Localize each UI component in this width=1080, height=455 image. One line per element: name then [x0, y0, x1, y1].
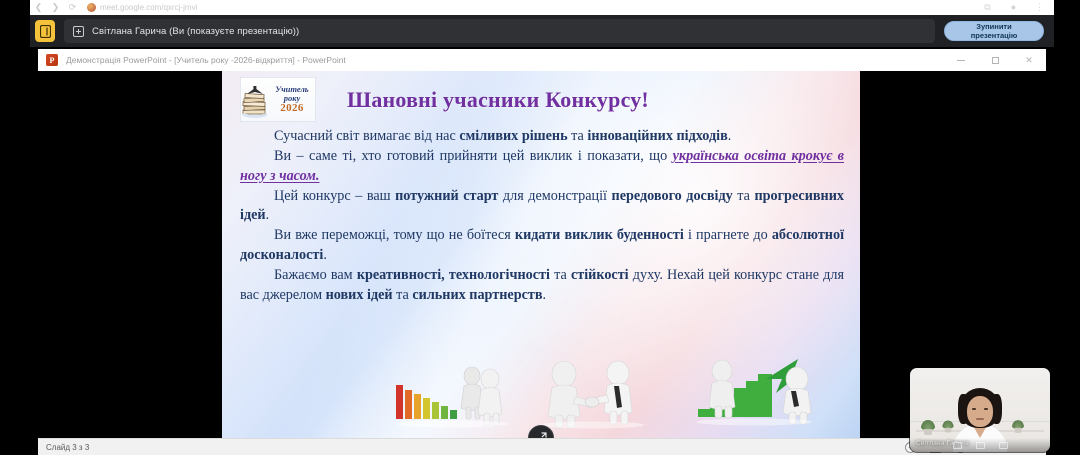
slide-paragraph: Бажаємо вам креативності, технологічност… — [240, 266, 844, 305]
stop-presenting-button[interactable]: Зупинити презентацію — [944, 21, 1044, 41]
contest-logo-year: 2026 — [269, 103, 315, 115]
browser-toolbar-actions: ⧉ ● ⋮ — [979, 0, 1054, 15]
meet-presentation-icon[interactable] — [35, 20, 55, 42]
emphasis-run: інноваційних підходів — [587, 128, 727, 144]
text-run: . — [266, 207, 270, 223]
presentation-slide[interactable]: Учитель року 2026 Шановні учасники Конку… — [222, 71, 860, 438]
slide-paragraph: Ви вже переможці, тому що не боїтеся кид… — [240, 226, 844, 265]
text-run: для демонстрації — [498, 188, 611, 204]
window-controls: ✕ — [944, 49, 1046, 71]
self-view-video-frame: Світлана Гарича — [910, 368, 1050, 452]
powerpoint-title-bar[interactable]: Демонстрація PowerPoint - [Учитель року … — [38, 49, 1046, 71]
self-view-video-tile[interactable]: Світлана Гарича — [910, 368, 1050, 452]
text-run: та — [568, 128, 588, 144]
text-run: Ви – саме ті, хто готовий прийняти цей в… — [274, 148, 673, 164]
text-run: та — [733, 188, 755, 204]
more-options-icon[interactable] — [999, 442, 1008, 449]
emphasis-run: нових ідей — [326, 287, 393, 303]
emphasis-run: сміливих рішень — [459, 128, 567, 144]
address-bar[interactable]: meet.google.com/qxrcj-jmvi — [87, 1, 979, 14]
bar-chart-with-figures-graphic — [394, 363, 512, 434]
slide-body-text: Сучасний світ вимагає від нас сміливих р… — [222, 127, 860, 305]
profile-avatar-icon[interactable]: ● — [1005, 0, 1022, 15]
text-run: . — [728, 128, 732, 144]
slide-counter-label: Слайд 3 з 3 — [46, 443, 89, 452]
stop-presenting-line2: презентацію — [971, 31, 1018, 40]
expand-fullscreen-button[interactable] — [528, 425, 554, 438]
microphone-icon[interactable] — [953, 442, 962, 449]
plant-icon — [921, 420, 935, 435]
slide-paragraph: Сучасний світ вимагає від нас сміливих р… — [240, 127, 844, 147]
address-bar-url: meet.google.com/qxrcj-jmvi — [100, 3, 197, 12]
slide-paragraph: Цей конкурс – ваш потужний старт для дем… — [240, 187, 844, 226]
maximize-icon[interactable] — [978, 49, 1012, 71]
participant-eye-right — [984, 408, 988, 410]
text-run: Сучасний світ вимагає від нас — [274, 128, 459, 144]
browser-menu-icon[interactable]: ⋮ — [1031, 0, 1048, 15]
powerpoint-logo-icon — [46, 54, 58, 66]
back-arrow-icon[interactable]: ❮ — [30, 0, 47, 15]
browser-toolbar: ❮ ❯ ⟳ meet.google.com/qxrcj-jmvi ⧉ ● ⋮ — [0, 0, 1080, 15]
participant-mouth — [976, 418, 984, 420]
meet-presentation-bar: Світлана Гарича (Ви (показуєте презентац… — [30, 15, 1054, 47]
slide-header: Учитель року 2026 Шановні учасники Конку… — [222, 71, 860, 127]
slide-title: Шановні учасники Конкурсу! — [347, 87, 649, 113]
forward-arrow-icon[interactable]: ❯ — [47, 0, 64, 15]
text-run: та — [550, 267, 571, 283]
extensions-icon[interactable]: ⧉ — [979, 0, 996, 15]
emphasis-run: стійкості — [571, 267, 629, 283]
text-run: . — [543, 287, 547, 303]
handshake-figures-graphic — [534, 359, 654, 434]
presenter-name-label: Світлана Гарича (Ви (показуєте презентац… — [92, 26, 299, 37]
text-run: та — [393, 287, 413, 303]
camera-icon[interactable] — [976, 442, 985, 449]
green-stairs-arrow-figures-graphic — [692, 357, 822, 434]
reload-icon[interactable]: ⟳ — [64, 0, 81, 15]
pin-icon[interactable] — [73, 26, 84, 37]
slideshow-stage: Учитель року 2026 Шановні учасники Конку… — [38, 71, 1046, 438]
text-run: Бажаємо вам — [274, 267, 357, 283]
screen-root: ❮ ❯ ⟳ meet.google.com/qxrcj-jmvi ⧉ ● ⋮ С… — [0, 0, 1080, 455]
contest-logo-badge: Учитель року 2026 — [240, 77, 316, 122]
emphasis-run: сильних партнерств — [412, 287, 542, 303]
text-run: . — [323, 247, 327, 263]
stack-of-books-icon — [241, 80, 269, 120]
close-icon[interactable]: ✕ — [1012, 49, 1046, 71]
slide-paragraph: Ви – саме ті, хто готовий прийняти цей в… — [240, 147, 844, 186]
powerpoint-window-title: Демонстрація PowerPoint - [Учитель року … — [66, 55, 346, 65]
browser-left-gutter — [0, 0, 30, 15]
minimize-icon[interactable] — [944, 49, 978, 71]
emphasis-run: передового досвіду — [612, 188, 733, 204]
participant-eye-left — [972, 408, 976, 410]
participant-face — [967, 396, 993, 427]
site-favicon — [87, 3, 96, 12]
text-run: і прагнете до — [684, 227, 772, 243]
powerpoint-status-bar: Слайд 3 з 3 ◁ ▤ ▷ — [38, 438, 1046, 455]
stop-presenting-line1: Зупинити — [976, 22, 1011, 31]
browser-right-gutter — [1054, 0, 1080, 15]
contest-logo-text: Учитель року 2026 — [269, 85, 315, 114]
emphasis-run: кидати виклик буденності — [515, 227, 684, 243]
emphasis-run: креативності, технологічності — [357, 267, 550, 283]
powerpoint-window: Демонстрація PowerPoint - [Учитель року … — [38, 49, 1046, 455]
emphasis-run: потужний старт — [395, 188, 498, 204]
text-run: Ви вже переможці, тому що не боїтеся — [274, 227, 515, 243]
presenter-status-pill[interactable]: Світлана Гарича (Ви (показуєте презентац… — [64, 19, 935, 43]
plant-icon — [1012, 421, 1024, 434]
text-run: Цей конкурс – ваш — [274, 188, 395, 204]
self-view-controls — [910, 438, 1050, 452]
